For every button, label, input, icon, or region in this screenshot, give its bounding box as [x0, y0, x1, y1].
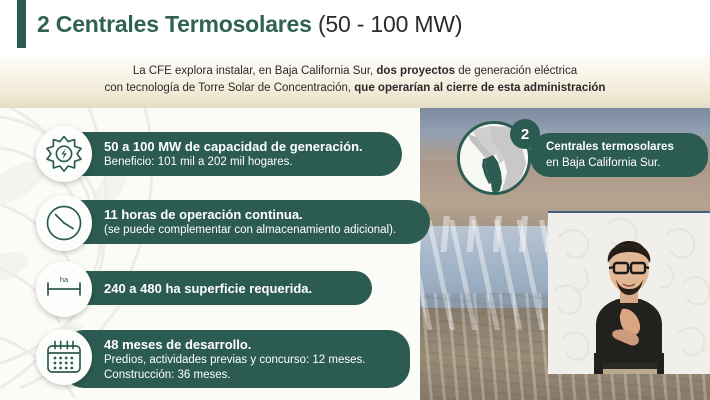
- header-bar: 2 Centrales Termosolares (50 - 100 MW): [0, 0, 710, 52]
- subtitle-line-1-pre: La CFE explora instalar, en Baja Califor…: [133, 65, 377, 77]
- map-badge-pill: Centrales termosolares en Baja Californi…: [530, 133, 708, 177]
- bullet-3-headline: 240 a 480 ha superficie requerida.: [104, 280, 356, 297]
- bullet-1-icon-circle: [36, 126, 92, 182]
- area-measure-icon: ha: [42, 269, 86, 309]
- subtitle-line-1: La CFE explora instalar, en Baja Califor…: [133, 63, 577, 80]
- bullet-1-subline: Beneficio: 101 mil a 202 mil hogares.: [104, 155, 386, 170]
- bullet-2-subline: (se puede complementar con almacenamient…: [104, 223, 414, 238]
- subtitle-band: La CFE explora instalar, en Baja Califor…: [0, 52, 710, 108]
- bullet-4-subline-2: Construcción: 36 meses.: [104, 368, 394, 383]
- bullet-pill-capacity: 50 a 100 MW de capacidad de generación. …: [62, 132, 402, 176]
- bullet-2-headline: 11 horas de operación continua.: [104, 206, 414, 223]
- bullet-1-headline: 50 a 100 MW de capacidad de generación.: [104, 138, 386, 155]
- page-title-main: 2 Centrales Termosolares: [37, 11, 312, 37]
- bullet-4-subline-1: Predios, actividades previas y concurso:…: [104, 353, 394, 368]
- bullet-4-headline: 48 meses de desarrollo.: [104, 336, 394, 353]
- area-measure-icon-label: ha: [60, 275, 69, 284]
- bullet-4-icon-circle: [36, 329, 92, 385]
- title-accent-bar: [17, 0, 26, 48]
- map-count-badge: 2: [510, 119, 540, 149]
- page-title-capacity: (50 - 100 MW): [312, 11, 463, 37]
- clock-icon: [44, 203, 84, 243]
- sunburst-bolt-icon: [44, 134, 84, 174]
- subtitle-line-2-pre: con tecnología de Torre Solar de Concent…: [105, 82, 355, 94]
- subtitle-line-2: con tecnología de Torre Solar de Concent…: [105, 80, 606, 97]
- subtitle-line-1-post: de generación eléctrica: [455, 65, 577, 77]
- slide-root: 2 Centrales Termosolares (50 - 100 MW) L…: [0, 0, 710, 400]
- interpreter-figure-icon: [548, 213, 710, 374]
- sign-language-interpreter-inset: [548, 211, 710, 374]
- subtitle-line-2-bold: que operarían al cierre de esta administ…: [354, 82, 605, 94]
- map-badge-line-2: en Baja California Sur.: [546, 155, 698, 171]
- map-badge-line-1: Centrales termosolares: [546, 139, 698, 155]
- page-title: 2 Centrales Termosolares (50 - 100 MW): [37, 8, 462, 40]
- bullet-pill-surface: 240 a 480 ha superficie requerida.: [62, 271, 372, 305]
- bullet-2-icon-circle: [36, 195, 92, 251]
- subtitle-line-1-bold: dos proyectos: [376, 65, 455, 77]
- bullet-3-icon-circle: ha: [36, 261, 92, 317]
- bullet-pill-hours: 11 horas de operación continua. (se pued…: [62, 200, 430, 244]
- calendar-icon: [43, 337, 85, 377]
- bullet-pill-schedule: 48 meses de desarrollo. Predios, activid…: [62, 330, 410, 388]
